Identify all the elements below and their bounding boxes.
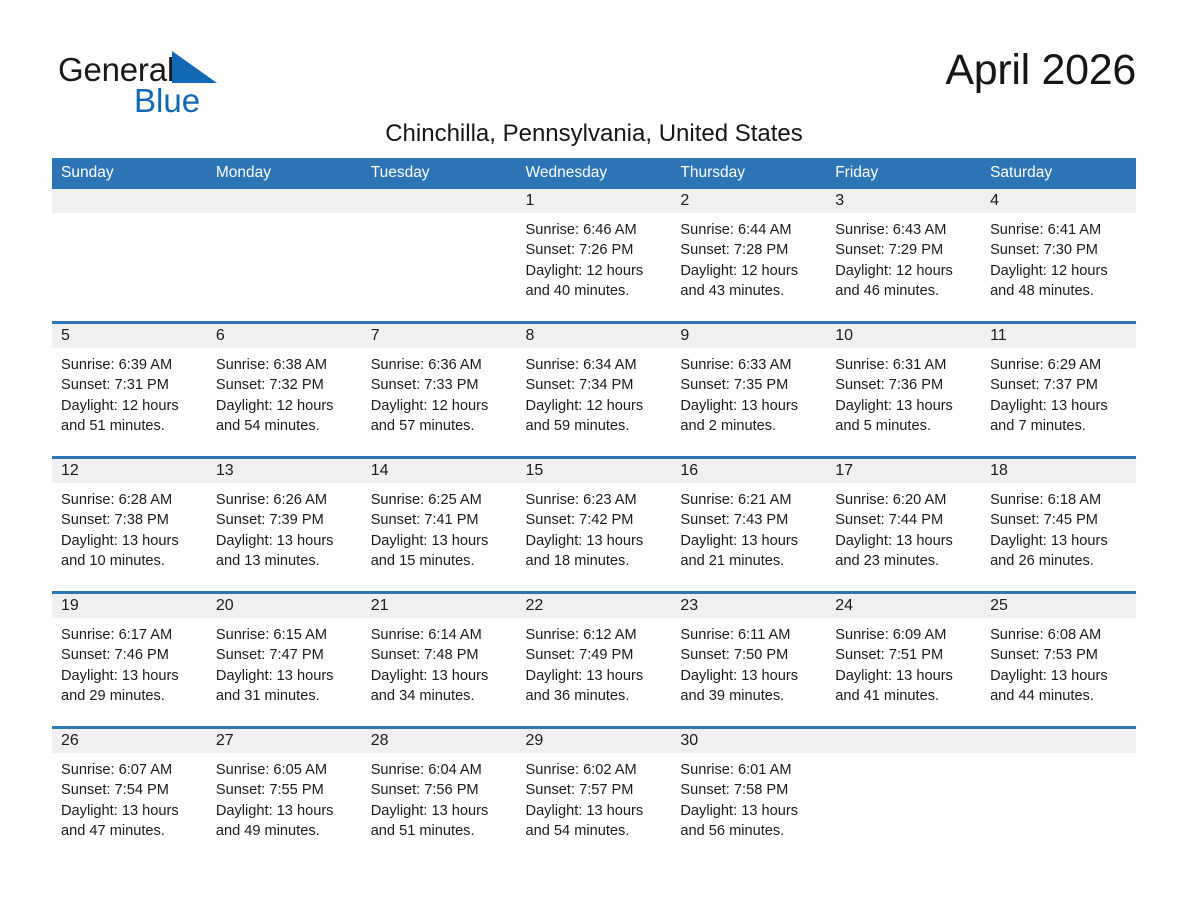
day-detail-line: Sunset: 7:33 PM [371, 375, 509, 395]
calendar-day-cell[interactable]: 9Sunrise: 6:33 AMSunset: 7:35 PMDaylight… [671, 323, 826, 458]
day-details: Sunrise: 6:02 AMSunset: 7:57 PMDaylight:… [517, 753, 672, 841]
day-detail-line: Daylight: 13 hours [680, 396, 818, 416]
location-subtitle: Chinchilla, Pennsylvania, United States [52, 120, 1136, 148]
day-detail-line: Daylight: 13 hours [680, 666, 818, 686]
calendar-day-cell[interactable]: 14Sunrise: 6:25 AMSunset: 7:41 PMDayligh… [362, 458, 517, 593]
triangle-icon [172, 51, 217, 83]
day-number: 17 [826, 459, 981, 483]
day-number: 29 [517, 729, 672, 753]
day-detail-line: and 23 minutes. [835, 551, 973, 571]
calendar-day-cell[interactable]: 30Sunrise: 6:01 AMSunset: 7:58 PMDayligh… [671, 728, 826, 862]
day-detail-line: Sunrise: 6:14 AM [371, 625, 509, 645]
day-number [826, 729, 981, 753]
day-details: Sunrise: 6:01 AMSunset: 7:58 PMDaylight:… [671, 753, 826, 841]
calendar-page: General Blue April 2026 Chinchilla, Penn… [0, 0, 1188, 918]
day-details [826, 753, 981, 760]
day-details: Sunrise: 6:26 AMSunset: 7:39 PMDaylight:… [207, 483, 362, 571]
day-number: 13 [207, 459, 362, 483]
day-detail-line: Daylight: 13 hours [990, 396, 1128, 416]
day-detail-line: Sunset: 7:35 PM [680, 375, 818, 395]
day-cell-inner [981, 729, 1136, 861]
day-number: 4 [981, 189, 1136, 213]
day-detail-line: Sunrise: 6:12 AM [526, 625, 664, 645]
day-detail-line: Sunset: 7:57 PM [526, 780, 664, 800]
day-detail-line: Sunrise: 6:11 AM [680, 625, 818, 645]
day-detail-line: Sunset: 7:36 PM [835, 375, 973, 395]
day-detail-line: Daylight: 13 hours [371, 666, 509, 686]
day-details: Sunrise: 6:31 AMSunset: 7:36 PMDaylight:… [826, 348, 981, 436]
day-details: Sunrise: 6:15 AMSunset: 7:47 PMDaylight:… [207, 618, 362, 706]
calendar-day-cell[interactable]: 12Sunrise: 6:28 AMSunset: 7:38 PMDayligh… [52, 458, 207, 593]
calendar-body: 1Sunrise: 6:46 AMSunset: 7:26 PMDaylight… [52, 189, 1136, 861]
calendar-week-row: 26Sunrise: 6:07 AMSunset: 7:54 PMDayligh… [52, 728, 1136, 862]
calendar-day-cell[interactable]: 15Sunrise: 6:23 AMSunset: 7:42 PMDayligh… [517, 458, 672, 593]
day-detail-line: Daylight: 12 hours [526, 261, 664, 281]
calendar-header-row: SundayMondayTuesdayWednesdayThursdayFrid… [52, 158, 1136, 189]
day-number: 18 [981, 459, 1136, 483]
day-number: 21 [362, 594, 517, 618]
day-detail-line: Daylight: 13 hours [526, 801, 664, 821]
calendar-day-cell-empty [826, 728, 981, 862]
day-detail-line: and 21 minutes. [680, 551, 818, 571]
day-detail-line: Sunset: 7:43 PM [680, 510, 818, 530]
day-detail-line: Daylight: 12 hours [371, 396, 509, 416]
day-details: Sunrise: 6:23 AMSunset: 7:42 PMDaylight:… [517, 483, 672, 571]
day-detail-line: Sunrise: 6:28 AM [61, 490, 199, 510]
day-cell-inner: 28Sunrise: 6:04 AMSunset: 7:56 PMDayligh… [362, 729, 517, 861]
day-cell-inner: 30Sunrise: 6:01 AMSunset: 7:58 PMDayligh… [671, 729, 826, 861]
day-detail-line: Daylight: 13 hours [216, 531, 354, 551]
day-detail-line: Sunrise: 6:09 AM [835, 625, 973, 645]
day-details: Sunrise: 6:21 AMSunset: 7:43 PMDaylight:… [671, 483, 826, 571]
day-detail-line: Sunset: 7:28 PM [680, 240, 818, 260]
day-cell-inner: 27Sunrise: 6:05 AMSunset: 7:55 PMDayligh… [207, 729, 362, 861]
day-details: Sunrise: 6:12 AMSunset: 7:49 PMDaylight:… [517, 618, 672, 706]
day-detail-line: and 44 minutes. [990, 686, 1128, 706]
day-cell-inner: 14Sunrise: 6:25 AMSunset: 7:41 PMDayligh… [362, 459, 517, 591]
day-cell-inner: 17Sunrise: 6:20 AMSunset: 7:44 PMDayligh… [826, 459, 981, 591]
day-detail-line: and 40 minutes. [526, 281, 664, 301]
day-detail-line: Sunset: 7:50 PM [680, 645, 818, 665]
calendar-day-cell[interactable]: 5Sunrise: 6:39 AMSunset: 7:31 PMDaylight… [52, 323, 207, 458]
day-detail-line: and 2 minutes. [680, 416, 818, 436]
day-details: Sunrise: 6:41 AMSunset: 7:30 PMDaylight:… [981, 213, 1136, 301]
day-cell-inner: 2Sunrise: 6:44 AMSunset: 7:28 PMDaylight… [671, 189, 826, 321]
day-details: Sunrise: 6:44 AMSunset: 7:28 PMDaylight:… [671, 213, 826, 301]
day-detail-line: Sunrise: 6:25 AM [371, 490, 509, 510]
day-detail-line: Sunset: 7:31 PM [61, 375, 199, 395]
weekday-header-saturday: Saturday [981, 158, 1136, 189]
day-detail-line: and 34 minutes. [371, 686, 509, 706]
day-detail-line: Sunset: 7:42 PM [526, 510, 664, 530]
day-cell-inner: 12Sunrise: 6:28 AMSunset: 7:38 PMDayligh… [52, 459, 207, 591]
page-header: General Blue April 2026 Chinchilla, Penn… [52, 38, 1136, 146]
day-detail-line: Sunrise: 6:20 AM [835, 490, 973, 510]
day-detail-line: Sunrise: 6:34 AM [526, 355, 664, 375]
day-number: 15 [517, 459, 672, 483]
day-detail-line: and 26 minutes. [990, 551, 1128, 571]
calendar-day-cell[interactable]: 2Sunrise: 6:44 AMSunset: 7:28 PMDaylight… [671, 189, 826, 323]
day-detail-line: and 10 minutes. [61, 551, 199, 571]
general-blue-logo[interactable]: General Blue [58, 50, 318, 130]
weekday-header-wednesday: Wednesday [517, 158, 672, 189]
calendar-day-cell-empty [52, 189, 207, 323]
day-number [981, 729, 1136, 753]
calendar-day-cell[interactable]: 4Sunrise: 6:41 AMSunset: 7:30 PMDaylight… [981, 189, 1136, 323]
day-detail-line: Daylight: 13 hours [835, 531, 973, 551]
day-number: 10 [826, 324, 981, 348]
calendar-week-row: 19Sunrise: 6:17 AMSunset: 7:46 PMDayligh… [52, 593, 1136, 728]
calendar-day-cell[interactable]: 16Sunrise: 6:21 AMSunset: 7:43 PMDayligh… [671, 458, 826, 593]
day-number: 14 [362, 459, 517, 483]
day-details: Sunrise: 6:36 AMSunset: 7:33 PMDaylight:… [362, 348, 517, 436]
day-cell-inner: 26Sunrise: 6:07 AMSunset: 7:54 PMDayligh… [52, 729, 207, 861]
weekday-header-friday: Friday [826, 158, 981, 189]
day-detail-line: Sunrise: 6:08 AM [990, 625, 1128, 645]
calendar-day-cell[interactable]: 19Sunrise: 6:17 AMSunset: 7:46 PMDayligh… [52, 593, 207, 728]
day-number [207, 189, 362, 213]
day-cell-inner: 11Sunrise: 6:29 AMSunset: 7:37 PMDayligh… [981, 324, 1136, 456]
day-detail-line: and 31 minutes. [216, 686, 354, 706]
day-detail-line: Sunset: 7:54 PM [61, 780, 199, 800]
day-cell-inner: 3Sunrise: 6:43 AMSunset: 7:29 PMDaylight… [826, 189, 981, 321]
weekday-header-tuesday: Tuesday [362, 158, 517, 189]
day-cell-inner: 8Sunrise: 6:34 AMSunset: 7:34 PMDaylight… [517, 324, 672, 456]
calendar-day-cell[interactable]: 1Sunrise: 6:46 AMSunset: 7:26 PMDaylight… [517, 189, 672, 323]
calendar-day-cell[interactable]: 21Sunrise: 6:14 AMSunset: 7:48 PMDayligh… [362, 593, 517, 728]
day-detail-line: and 36 minutes. [526, 686, 664, 706]
day-number: 16 [671, 459, 826, 483]
day-cell-inner: 1Sunrise: 6:46 AMSunset: 7:26 PMDaylight… [517, 189, 672, 321]
day-number: 8 [517, 324, 672, 348]
day-detail-line: Sunset: 7:47 PM [216, 645, 354, 665]
day-details: Sunrise: 6:08 AMSunset: 7:53 PMDaylight:… [981, 618, 1136, 706]
day-number: 20 [207, 594, 362, 618]
day-details: Sunrise: 6:05 AMSunset: 7:55 PMDaylight:… [207, 753, 362, 841]
calendar-day-cell[interactable]: 11Sunrise: 6:29 AMSunset: 7:37 PMDayligh… [981, 323, 1136, 458]
day-detail-line: Daylight: 12 hours [61, 396, 199, 416]
day-number: 25 [981, 594, 1136, 618]
day-cell-inner: 19Sunrise: 6:17 AMSunset: 7:46 PMDayligh… [52, 594, 207, 726]
calendar-day-cell[interactable]: 18Sunrise: 6:18 AMSunset: 7:45 PMDayligh… [981, 458, 1136, 593]
day-detail-line: Sunrise: 6:33 AM [680, 355, 818, 375]
day-cell-inner [362, 189, 517, 321]
day-detail-line: and 51 minutes. [61, 416, 199, 436]
day-details [52, 213, 207, 220]
day-detail-line: Sunset: 7:39 PM [216, 510, 354, 530]
day-detail-line: and 39 minutes. [680, 686, 818, 706]
day-detail-line: Sunrise: 6:15 AM [216, 625, 354, 645]
day-cell-inner: 4Sunrise: 6:41 AMSunset: 7:30 PMDaylight… [981, 189, 1136, 321]
day-detail-line: Sunrise: 6:21 AM [680, 490, 818, 510]
day-detail-line: Daylight: 13 hours [526, 666, 664, 686]
calendar-day-cell[interactable]: 6Sunrise: 6:38 AMSunset: 7:32 PMDaylight… [207, 323, 362, 458]
day-detail-line: Sunrise: 6:38 AM [216, 355, 354, 375]
day-detail-line: Daylight: 13 hours [61, 531, 199, 551]
day-details: Sunrise: 6:07 AMSunset: 7:54 PMDaylight:… [52, 753, 207, 841]
day-detail-line: Daylight: 13 hours [526, 531, 664, 551]
day-detail-line: and 54 minutes. [526, 821, 664, 841]
day-details [362, 213, 517, 220]
day-detail-line: Daylight: 13 hours [835, 396, 973, 416]
day-detail-line: and 46 minutes. [835, 281, 973, 301]
day-number: 26 [52, 729, 207, 753]
calendar-day-cell[interactable]: 26Sunrise: 6:07 AMSunset: 7:54 PMDayligh… [52, 728, 207, 862]
day-details [981, 753, 1136, 760]
day-cell-inner: 18Sunrise: 6:18 AMSunset: 7:45 PMDayligh… [981, 459, 1136, 591]
day-number [362, 189, 517, 213]
day-details: Sunrise: 6:20 AMSunset: 7:44 PMDaylight:… [826, 483, 981, 571]
day-detail-line: Sunrise: 6:01 AM [680, 760, 818, 780]
calendar-day-cell[interactable]: 28Sunrise: 6:04 AMSunset: 7:56 PMDayligh… [362, 728, 517, 862]
day-number: 24 [826, 594, 981, 618]
calendar-week-row: 1Sunrise: 6:46 AMSunset: 7:26 PMDaylight… [52, 189, 1136, 323]
day-detail-line: and 51 minutes. [371, 821, 509, 841]
day-detail-line: and 18 minutes. [526, 551, 664, 571]
calendar-day-cell-empty [981, 728, 1136, 862]
day-cell-inner [207, 189, 362, 321]
day-detail-line: Sunset: 7:58 PM [680, 780, 818, 800]
day-detail-line: and 57 minutes. [371, 416, 509, 436]
day-details: Sunrise: 6:09 AMSunset: 7:51 PMDaylight:… [826, 618, 981, 706]
day-number: 11 [981, 324, 1136, 348]
day-detail-line: Daylight: 13 hours [990, 531, 1128, 551]
calendar-day-cell[interactable]: 13Sunrise: 6:26 AMSunset: 7:39 PMDayligh… [207, 458, 362, 593]
day-cell-inner: 5Sunrise: 6:39 AMSunset: 7:31 PMDaylight… [52, 324, 207, 456]
day-details [207, 213, 362, 220]
day-detail-line: Daylight: 13 hours [680, 801, 818, 821]
calendar-grid: SundayMondayTuesdayWednesdayThursdayFrid… [52, 158, 1136, 861]
day-number: 5 [52, 324, 207, 348]
day-cell-inner: 22Sunrise: 6:12 AMSunset: 7:49 PMDayligh… [517, 594, 672, 726]
day-detail-line: Daylight: 13 hours [371, 801, 509, 821]
day-cell-inner: 20Sunrise: 6:15 AMSunset: 7:47 PMDayligh… [207, 594, 362, 726]
calendar-day-cell[interactable]: 27Sunrise: 6:05 AMSunset: 7:55 PMDayligh… [207, 728, 362, 862]
day-details: Sunrise: 6:11 AMSunset: 7:50 PMDaylight:… [671, 618, 826, 706]
calendar-day-cell-empty [362, 189, 517, 323]
day-detail-line: and 15 minutes. [371, 551, 509, 571]
calendar-day-cell[interactable]: 24Sunrise: 6:09 AMSunset: 7:51 PMDayligh… [826, 593, 981, 728]
day-number: 23 [671, 594, 826, 618]
day-detail-line: Sunset: 7:38 PM [61, 510, 199, 530]
day-detail-line: Sunset: 7:29 PM [835, 240, 973, 260]
day-detail-line: Sunrise: 6:07 AM [61, 760, 199, 780]
day-detail-line: Sunset: 7:53 PM [990, 645, 1128, 665]
logo-text-general: General [58, 51, 174, 88]
day-details: Sunrise: 6:17 AMSunset: 7:46 PMDaylight:… [52, 618, 207, 706]
day-cell-inner [826, 729, 981, 861]
day-detail-line: Sunrise: 6:31 AM [835, 355, 973, 375]
day-cell-inner: 13Sunrise: 6:26 AMSunset: 7:39 PMDayligh… [207, 459, 362, 591]
day-detail-line: Sunrise: 6:17 AM [61, 625, 199, 645]
day-cell-inner: 23Sunrise: 6:11 AMSunset: 7:50 PMDayligh… [671, 594, 826, 726]
day-detail-line: Sunset: 7:51 PM [835, 645, 973, 665]
day-number: 2 [671, 189, 826, 213]
day-detail-line: Daylight: 13 hours [835, 666, 973, 686]
day-details: Sunrise: 6:34 AMSunset: 7:34 PMDaylight:… [517, 348, 672, 436]
day-detail-line: Daylight: 12 hours [526, 396, 664, 416]
day-detail-line: Sunrise: 6:41 AM [990, 220, 1128, 240]
day-detail-line: and 13 minutes. [216, 551, 354, 571]
day-detail-line: Daylight: 12 hours [835, 261, 973, 281]
day-cell-inner: 21Sunrise: 6:14 AMSunset: 7:48 PMDayligh… [362, 594, 517, 726]
day-detail-line: Daylight: 13 hours [61, 666, 199, 686]
day-details: Sunrise: 6:29 AMSunset: 7:37 PMDaylight:… [981, 348, 1136, 436]
calendar-day-cell[interactable]: 17Sunrise: 6:20 AMSunset: 7:44 PMDayligh… [826, 458, 981, 593]
day-cell-inner: 15Sunrise: 6:23 AMSunset: 7:42 PMDayligh… [517, 459, 672, 591]
calendar-day-cell[interactable]: 20Sunrise: 6:15 AMSunset: 7:47 PMDayligh… [207, 593, 362, 728]
day-number: 3 [826, 189, 981, 213]
day-details: Sunrise: 6:39 AMSunset: 7:31 PMDaylight:… [52, 348, 207, 436]
day-detail-line: Sunset: 7:41 PM [371, 510, 509, 530]
weekday-header-thursday: Thursday [671, 158, 826, 189]
logo-line-one: General [58, 50, 318, 90]
day-cell-inner: 24Sunrise: 6:09 AMSunset: 7:51 PMDayligh… [826, 594, 981, 726]
weekday-header-monday: Monday [207, 158, 362, 189]
day-detail-line: Sunset: 7:30 PM [990, 240, 1128, 260]
day-detail-line: Daylight: 13 hours [216, 801, 354, 821]
day-detail-line: Daylight: 12 hours [216, 396, 354, 416]
calendar-day-cell[interactable]: 29Sunrise: 6:02 AMSunset: 7:57 PMDayligh… [517, 728, 672, 862]
day-details: Sunrise: 6:04 AMSunset: 7:56 PMDaylight:… [362, 753, 517, 841]
day-detail-line: Daylight: 12 hours [680, 261, 818, 281]
day-number [52, 189, 207, 213]
day-detail-line: Sunset: 7:45 PM [990, 510, 1128, 530]
day-detail-line: Sunset: 7:48 PM [371, 645, 509, 665]
day-detail-line: Sunrise: 6:44 AM [680, 220, 818, 240]
day-detail-line: and 43 minutes. [680, 281, 818, 301]
day-detail-line: Sunset: 7:56 PM [371, 780, 509, 800]
day-detail-line: Sunset: 7:46 PM [61, 645, 199, 665]
day-number: 6 [207, 324, 362, 348]
calendar-week-row: 5Sunrise: 6:39 AMSunset: 7:31 PMDaylight… [52, 323, 1136, 458]
day-detail-line: and 29 minutes. [61, 686, 199, 706]
day-detail-line: and 41 minutes. [835, 686, 973, 706]
day-detail-line: Daylight: 13 hours [61, 801, 199, 821]
calendar-day-cell[interactable]: 22Sunrise: 6:12 AMSunset: 7:49 PMDayligh… [517, 593, 672, 728]
day-details: Sunrise: 6:38 AMSunset: 7:32 PMDaylight:… [207, 348, 362, 436]
weekday-header-sunday: Sunday [52, 158, 207, 189]
calendar-day-cell[interactable]: 8Sunrise: 6:34 AMSunset: 7:34 PMDaylight… [517, 323, 672, 458]
day-detail-line: Sunset: 7:44 PM [835, 510, 973, 530]
day-detail-line: Sunrise: 6:43 AM [835, 220, 973, 240]
day-number: 28 [362, 729, 517, 753]
day-number: 19 [52, 594, 207, 618]
day-detail-line: Sunrise: 6:05 AM [216, 760, 354, 780]
day-details: Sunrise: 6:46 AMSunset: 7:26 PMDaylight:… [517, 213, 672, 301]
day-detail-line: and 49 minutes. [216, 821, 354, 841]
day-detail-line: Sunset: 7:32 PM [216, 375, 354, 395]
day-detail-line: Daylight: 13 hours [371, 531, 509, 551]
day-detail-line: Sunset: 7:26 PM [526, 240, 664, 260]
day-number: 12 [52, 459, 207, 483]
day-cell-inner: 16Sunrise: 6:21 AMSunset: 7:43 PMDayligh… [671, 459, 826, 591]
page-title: April 2026 [945, 46, 1136, 95]
day-detail-line: and 48 minutes. [990, 281, 1128, 301]
day-cell-inner: 25Sunrise: 6:08 AMSunset: 7:53 PMDayligh… [981, 594, 1136, 726]
day-details: Sunrise: 6:14 AMSunset: 7:48 PMDaylight:… [362, 618, 517, 706]
day-detail-line: and 7 minutes. [990, 416, 1128, 436]
day-cell-inner: 10Sunrise: 6:31 AMSunset: 7:36 PMDayligh… [826, 324, 981, 456]
day-number: 9 [671, 324, 826, 348]
day-detail-line: Sunrise: 6:29 AM [990, 355, 1128, 375]
calendar-table: SundayMondayTuesdayWednesdayThursdayFrid… [52, 158, 1136, 861]
day-detail-line: Sunrise: 6:26 AM [216, 490, 354, 510]
day-detail-line: and 59 minutes. [526, 416, 664, 436]
day-details: Sunrise: 6:28 AMSunset: 7:38 PMDaylight:… [52, 483, 207, 571]
calendar-day-cell[interactable]: 25Sunrise: 6:08 AMSunset: 7:53 PMDayligh… [981, 593, 1136, 728]
day-number: 22 [517, 594, 672, 618]
day-detail-line: Sunrise: 6:18 AM [990, 490, 1128, 510]
day-detail-line: Sunset: 7:37 PM [990, 375, 1128, 395]
day-detail-line: and 5 minutes. [835, 416, 973, 436]
calendar-day-cell[interactable]: 23Sunrise: 6:11 AMSunset: 7:50 PMDayligh… [671, 593, 826, 728]
day-detail-line: Sunrise: 6:46 AM [526, 220, 664, 240]
day-details: Sunrise: 6:43 AMSunset: 7:29 PMDaylight:… [826, 213, 981, 301]
day-detail-line: Daylight: 13 hours [990, 666, 1128, 686]
calendar-day-cell-empty [207, 189, 362, 323]
calendar-week-row: 12Sunrise: 6:28 AMSunset: 7:38 PMDayligh… [52, 458, 1136, 593]
day-details: Sunrise: 6:18 AMSunset: 7:45 PMDaylight:… [981, 483, 1136, 571]
day-cell-inner: 6Sunrise: 6:38 AMSunset: 7:32 PMDaylight… [207, 324, 362, 456]
day-number: 7 [362, 324, 517, 348]
day-detail-line: and 54 minutes. [216, 416, 354, 436]
day-cell-inner: 7Sunrise: 6:36 AMSunset: 7:33 PMDaylight… [362, 324, 517, 456]
day-details: Sunrise: 6:33 AMSunset: 7:35 PMDaylight:… [671, 348, 826, 436]
day-detail-line: Sunset: 7:49 PM [526, 645, 664, 665]
day-number: 27 [207, 729, 362, 753]
calendar-day-cell[interactable]: 7Sunrise: 6:36 AMSunset: 7:33 PMDaylight… [362, 323, 517, 458]
day-detail-line: Daylight: 13 hours [680, 531, 818, 551]
day-number: 1 [517, 189, 672, 213]
day-detail-line: Sunrise: 6:23 AM [526, 490, 664, 510]
day-cell-inner: 29Sunrise: 6:02 AMSunset: 7:57 PMDayligh… [517, 729, 672, 861]
day-detail-line: Sunrise: 6:39 AM [61, 355, 199, 375]
day-detail-line: Daylight: 12 hours [990, 261, 1128, 281]
calendar-day-cell[interactable]: 10Sunrise: 6:31 AMSunset: 7:36 PMDayligh… [826, 323, 981, 458]
day-detail-line: Daylight: 13 hours [216, 666, 354, 686]
day-number: 30 [671, 729, 826, 753]
day-detail-line: and 56 minutes. [680, 821, 818, 841]
day-cell-inner: 9Sunrise: 6:33 AMSunset: 7:35 PMDaylight… [671, 324, 826, 456]
day-detail-line: Sunrise: 6:04 AM [371, 760, 509, 780]
day-details: Sunrise: 6:25 AMSunset: 7:41 PMDaylight:… [362, 483, 517, 571]
day-detail-line: Sunset: 7:55 PM [216, 780, 354, 800]
day-detail-line: Sunrise: 6:36 AM [371, 355, 509, 375]
day-detail-line: and 47 minutes. [61, 821, 199, 841]
day-cell-inner [52, 189, 207, 321]
calendar-day-cell[interactable]: 3Sunrise: 6:43 AMSunset: 7:29 PMDaylight… [826, 189, 981, 323]
day-detail-line: Sunrise: 6:02 AM [526, 760, 664, 780]
day-detail-line: Sunset: 7:34 PM [526, 375, 664, 395]
